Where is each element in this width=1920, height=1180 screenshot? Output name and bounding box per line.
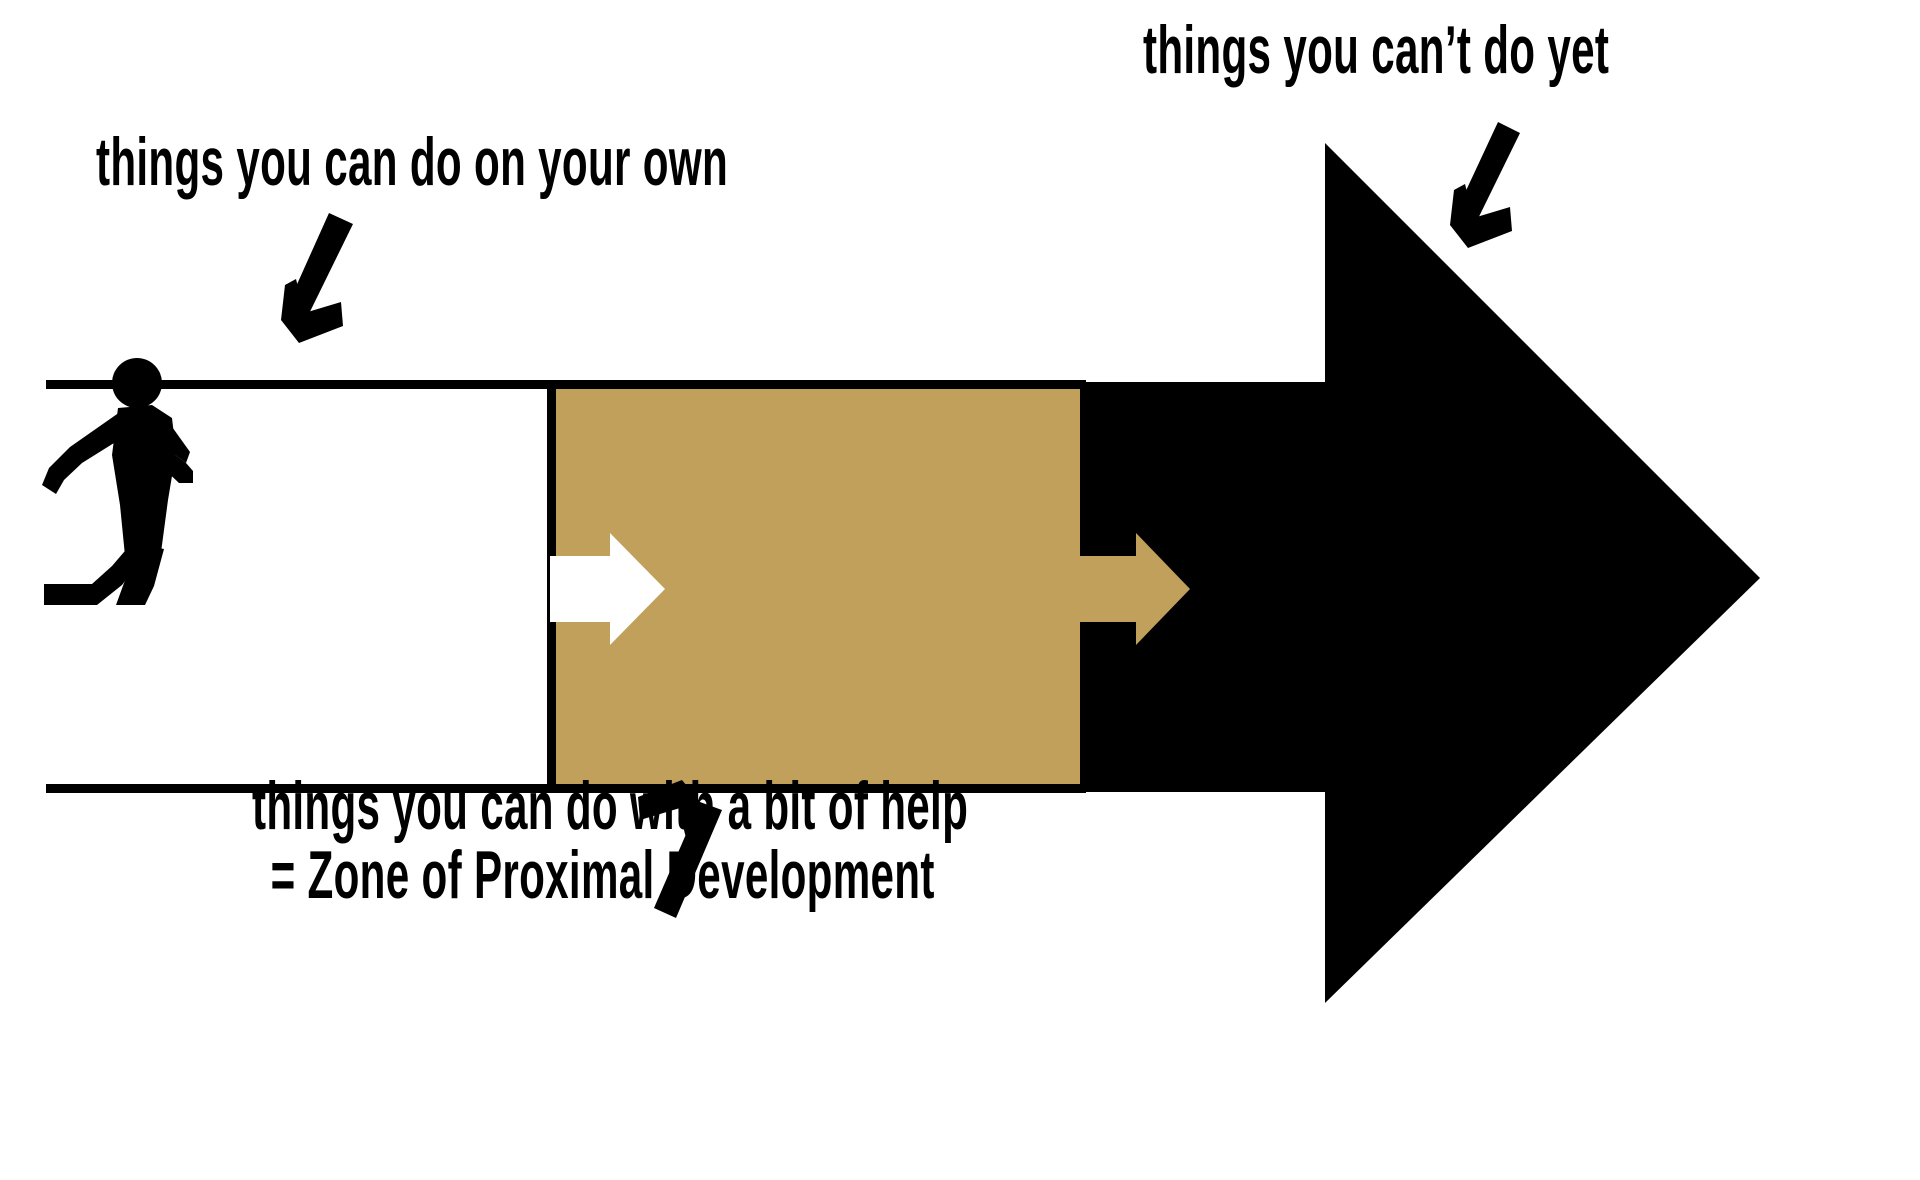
label-zone-of-proximal-development: things you can do with a bit of help = Z… <box>252 772 968 911</box>
arrow-head-triangle <box>1325 143 1760 1003</box>
big-right-arrow-icon <box>1080 143 1760 1003</box>
diagram-canvas: things you can do on your own things you… <box>0 0 1920 1180</box>
label-things-you-cant-do-yet: things you can’t do yet <box>1143 16 1609 85</box>
label-things-you-can-do-on-your-own: things you can do on your own <box>96 128 728 197</box>
zpd-label-line-1: things you can do with a bit of help <box>252 768 968 844</box>
shaft-top-rule <box>46 380 1086 389</box>
down-left-pointer-arrow-icon-cant <box>1450 122 1520 248</box>
zpd-label-line-2: = Zone of Proximal Development <box>252 841 968 910</box>
down-left-pointer-arrow-icon-own <box>281 213 353 343</box>
